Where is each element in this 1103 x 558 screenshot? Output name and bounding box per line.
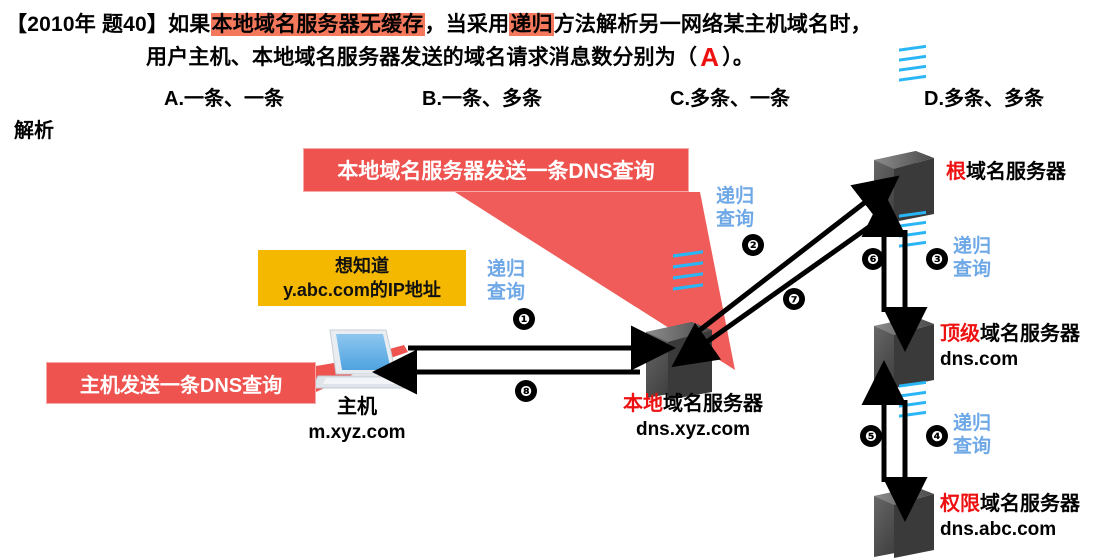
step-marker-8: ❽: [515, 380, 537, 402]
option-b-key: B.: [422, 88, 442, 110]
note-line-1: 想知道: [335, 254, 389, 278]
question-mid-1: ，当采用: [425, 13, 510, 36]
question-line2-post: ）。: [722, 46, 754, 69]
device-label-auth-fqdn: dns.abc.com: [940, 517, 1103, 542]
recursive-label-3-line2: 查询: [953, 258, 991, 281]
option-c-key: C.: [670, 88, 690, 110]
note-want-to-know: 想知道 y.abc.com的IP地址: [258, 250, 466, 306]
option-c[interactable]: C.多条、一条: [670, 82, 790, 111]
device-label-root-name: 域名服务器: [966, 161, 1066, 183]
option-b[interactable]: B.一条、多条: [422, 82, 542, 111]
device-label-auth-name: 域名服务器: [980, 493, 1080, 515]
device-label-local-name: 域名服务器: [663, 393, 763, 415]
recursive-label-3: 递归 查询: [953, 235, 991, 281]
question-highlight-1: 本地域名服务器无缓存: [211, 13, 425, 36]
option-a-text: 一条、一条: [184, 88, 284, 110]
step-marker-5: ❺: [860, 425, 882, 447]
selected-answer: A: [697, 42, 722, 72]
recursive-label-2-line1: 递归: [716, 185, 754, 208]
server-icon-root: [874, 45, 934, 222]
recursive-label-4: 递归 查询: [953, 412, 991, 458]
note-line-2: y.abc.com的IP地址: [283, 278, 441, 302]
device-label-host-name: 主机: [282, 395, 432, 420]
question-highlight-2: 递归: [509, 13, 553, 36]
device-label-tld-server: 顶级域名服务器 dns.com: [940, 322, 1103, 372]
device-label-host-fqdn: m.xyz.com: [282, 420, 432, 445]
device-label-local-server: 本地域名服务器 dns.xyz.com: [578, 392, 808, 442]
device-label-auth-prefix: 权限: [940, 493, 980, 515]
device-label-local-prefix: 本地: [623, 393, 663, 415]
question-line-2: 用户主机、本地域名服务器发送的域名请求消息数分别为（A）。: [146, 42, 754, 73]
option-d[interactable]: D.多条、多条: [924, 82, 1044, 111]
device-label-tld-prefix: 顶级: [940, 323, 980, 345]
recursive-label-2: 递归 查询: [716, 185, 754, 231]
device-label-authoritative-server: 权限域名服务器 dns.abc.com: [940, 492, 1103, 542]
step-marker-2: ❷: [742, 234, 764, 256]
option-d-key: D.: [924, 88, 944, 110]
device-label-root-server: 根域名服务器: [946, 160, 1103, 185]
step-marker-7: ❼: [783, 288, 805, 310]
step-marker-3: ❸: [926, 248, 948, 270]
recursive-label-4-line1: 递归: [953, 412, 991, 435]
question-prefix: 【2010年 题40】如果: [6, 13, 211, 36]
device-label-local-fqdn: dns.xyz.com: [578, 417, 808, 442]
recursive-label-1: 递归 查询: [487, 258, 525, 304]
recursive-label-1-line1: 递归: [487, 258, 525, 281]
question-line2-pre: 用户主机、本地域名服务器发送的域名请求消息数分别为（: [146, 46, 697, 69]
device-label-tld-fqdn: dns.com: [940, 347, 1103, 372]
recursive-label-3-line1: 递归: [953, 235, 991, 258]
option-a-key: A.: [164, 88, 184, 110]
option-a[interactable]: A.一条、一条: [164, 82, 284, 111]
recursive-label-1-line2: 查询: [487, 281, 525, 304]
device-label-host: 主机 m.xyz.com: [282, 395, 432, 445]
option-b-text: 一条、多条: [442, 88, 542, 110]
step-marker-1: ❶: [513, 308, 535, 330]
recursive-label-4-line2: 查询: [953, 435, 991, 458]
device-label-root-prefix: 根: [946, 161, 966, 183]
callout-host: 主机发送一条DNS查询: [46, 362, 316, 404]
callout-local-server: 本地域名服务器发送一条DNS查询: [303, 148, 689, 192]
option-c-text: 多条、一条: [690, 88, 790, 110]
step-marker-6: ❻: [862, 248, 884, 270]
step-marker-4: ❹: [926, 425, 948, 447]
option-d-text: 多条、多条: [944, 88, 1044, 110]
question-line-1: 【2010年 题40】如果本地域名服务器无缓存，当采用递归方法解析另一网络某主机…: [6, 10, 872, 40]
device-label-tld-name: 域名服务器: [980, 323, 1080, 345]
question-mid-2: 方法解析另一网络某主机域名时，: [554, 13, 872, 36]
arrow-7: [704, 222, 876, 344]
recursive-label-2-line2: 查询: [716, 208, 754, 231]
analysis-heading: 解析: [14, 114, 54, 143]
